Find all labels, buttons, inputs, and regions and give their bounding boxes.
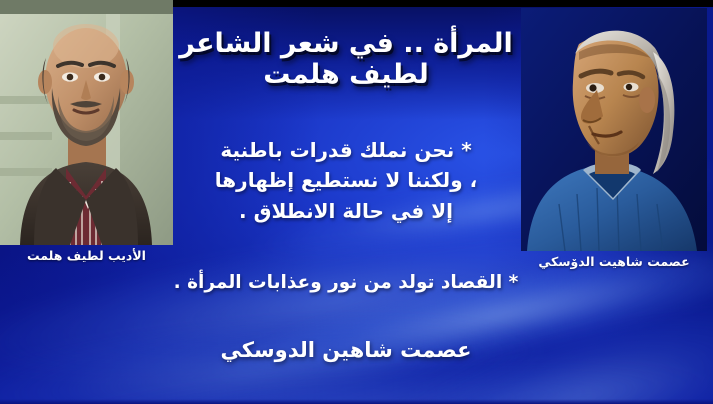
quote-one-line-3: إلا في حالة الانطلاق . [176,196,516,226]
quote-one-line-2: ، ولكننا لا نستطيع إظهارها [176,165,516,195]
portrait-right-illustration [521,8,707,251]
photo-ismat-shahin-duski [521,8,707,251]
photo-right-caption: عصمت شاهيت الدۆسكي [515,254,713,269]
photo-latif-halmat [0,0,173,245]
poster-title: المرأة .. في شعر الشاعر لطيف هلمت [176,28,516,90]
quote-one-line-1: * نحن نملك قدرات باطنية [176,135,516,165]
author-name: عصمت شاهين الدوسكي [176,338,516,362]
photo-left-caption: الأديب لطيف هلمت [0,248,173,263]
portrait-left-illustration [0,0,173,245]
quote-one-block: * نحن نملك قدرات باطنية ، ولكننا لا نستط… [176,135,516,226]
poster-canvas: الأديب لطيف هلمت [0,0,713,404]
quote-two: * القصاد تولد من نور وعذابات المرأة . [168,272,524,293]
bottom-dark-bar [0,399,713,404]
